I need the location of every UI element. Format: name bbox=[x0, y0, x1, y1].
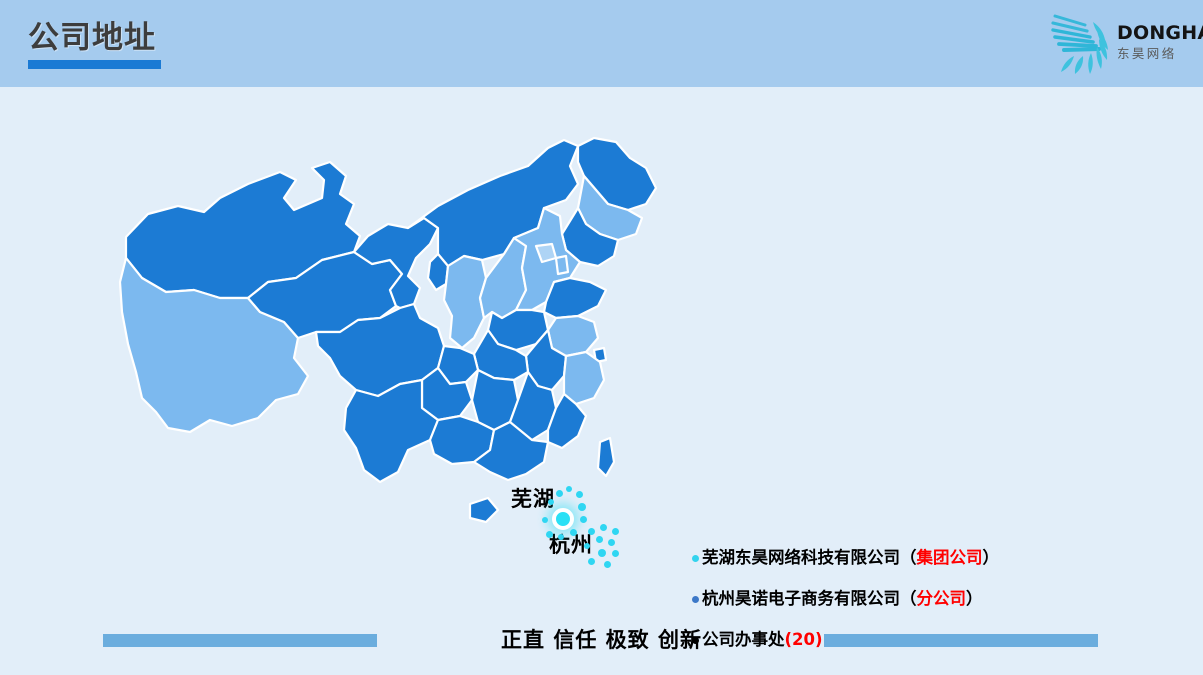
map-marker-office[interactable] bbox=[588, 558, 595, 565]
map-marker-office[interactable] bbox=[598, 549, 606, 557]
map-marker-office[interactable] bbox=[556, 490, 563, 497]
title-underline bbox=[28, 60, 161, 69]
map-marker-headquarters[interactable] bbox=[552, 508, 574, 530]
china-map bbox=[108, 132, 688, 632]
map-marker-office[interactable] bbox=[548, 499, 554, 505]
legend-item-tag: 分公司 bbox=[917, 588, 967, 610]
map-marker-office[interactable] bbox=[600, 524, 607, 531]
logo-company-name: DONGHAO bbox=[1117, 22, 1189, 44]
feather-fan-icon bbox=[1047, 12, 1113, 74]
map-marker-office[interactable] bbox=[588, 528, 595, 535]
legend-close-paren: ） bbox=[966, 588, 983, 610]
legend-item-group-company: 芜湖东昊网络科技有限公司 （ 集团公司 ） bbox=[692, 547, 1022, 569]
map-marker-office[interactable] bbox=[612, 528, 619, 535]
page-header: 公司地址 DONGHAO 东昊网 bbox=[0, 0, 1203, 87]
legend-item-branch-company: 杭州昊诺电子商务有限公司 （ 分公司 ） bbox=[692, 588, 1022, 610]
map-marker-office[interactable] bbox=[596, 536, 603, 543]
legend-close-paren: ） bbox=[983, 547, 1000, 569]
logo-company-subtitle: 东昊网络 bbox=[1117, 45, 1189, 63]
map-marker-office[interactable] bbox=[542, 517, 548, 523]
map-marker-office[interactable] bbox=[612, 550, 619, 557]
legend-open-paren: （ bbox=[900, 588, 917, 610]
legend-item-label: 芜湖东昊网络科技有限公司 bbox=[702, 547, 900, 569]
map-marker-office[interactable] bbox=[584, 543, 590, 549]
map-marker-office[interactable] bbox=[608, 539, 615, 546]
map-marker-office[interactable] bbox=[580, 516, 587, 523]
footer-slogan: 正直 信任 极致 创新 bbox=[0, 625, 1203, 655]
logo-text-block: DONGHAO 东昊网络 bbox=[1117, 22, 1189, 63]
legend-item-tag: 集团公司 bbox=[917, 547, 983, 569]
company-logo: DONGHAO 东昊网络 bbox=[1013, 8, 1189, 78]
map-marker-office[interactable] bbox=[558, 534, 564, 540]
page-title: 公司地址 bbox=[28, 18, 161, 69]
map-marker-office[interactable] bbox=[576, 491, 583, 498]
map-marker-office[interactable] bbox=[604, 561, 611, 568]
page-title-text: 公司地址 bbox=[28, 18, 161, 58]
legend-bullet-icon bbox=[692, 596, 699, 603]
map-marker-office[interactable] bbox=[570, 529, 577, 536]
map-marker-office[interactable] bbox=[578, 503, 586, 511]
map-marker-office[interactable] bbox=[566, 486, 572, 492]
legend-open-paren: （ bbox=[900, 547, 917, 569]
map-marker-office[interactable] bbox=[546, 531, 553, 538]
legend-bullet-icon bbox=[692, 555, 699, 562]
map-stage: 芜湖 杭州 芜湖东昊网络科技有限公司 （ 集团公司 ） 杭州昊诺电子商务有限公司… bbox=[0, 87, 1203, 675]
legend-item-label: 杭州昊诺电子商务有限公司 bbox=[702, 588, 900, 610]
